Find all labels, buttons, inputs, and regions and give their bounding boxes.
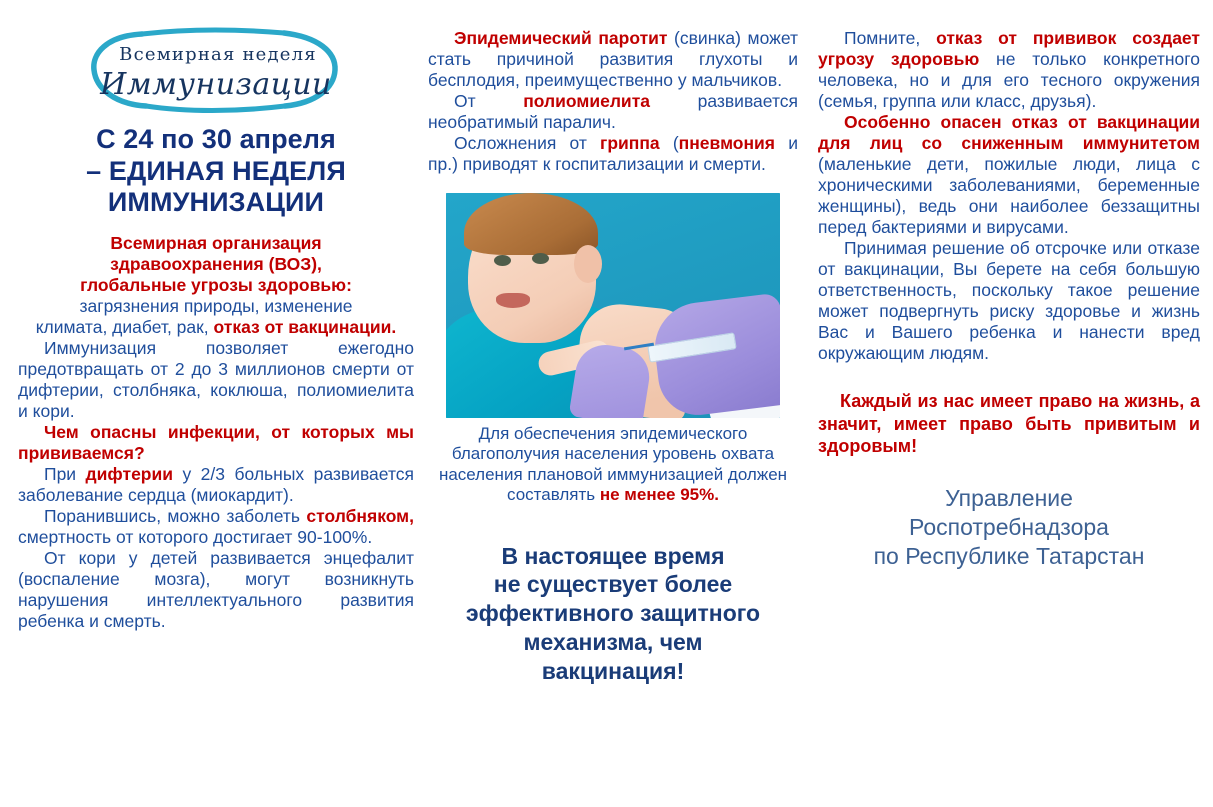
middle-paragraph-influenza: Осложнения от гриппа (пневмония и пр.) п… [428, 133, 798, 175]
influenza-pre: Осложнения от [454, 133, 600, 153]
remember-pre: Помните, [844, 28, 936, 48]
left-paragraph-tetanus: Поранившись, можно заболеть столбняком, … [18, 506, 414, 548]
photo-child-eye-left [494, 255, 511, 266]
tetanus-highlight: столбняком, [306, 506, 414, 526]
who-heading-line-2: здравоохранения (ВОЗ), [18, 254, 414, 275]
immunocompromised-post: (маленькие дети, пожилые люди, лица с хр… [818, 154, 1200, 237]
right-paragraph-remember: Помните, отказ от прививок создает угроз… [818, 28, 1200, 112]
immunocompromised-highlight: Особенно опасен отказ от вакцинации для … [818, 112, 1200, 153]
photo-child-eye-right [532, 253, 549, 264]
who-body-highlight: отказ от вакцинации. [214, 317, 397, 337]
who-heading-line-3: глобальные угрозы здоровью: [18, 275, 414, 296]
tetanus-pre: Поранившись, можно заболеть [44, 506, 306, 526]
who-body-line-1: загрязнения природы, изменение [18, 296, 414, 317]
title-line-1: С 24 по 30 апреля [18, 124, 414, 156]
middle-paragraph-polio: От полиомиелита развивается необратимый … [428, 91, 798, 133]
photo-child-mouth [496, 293, 530, 308]
tetanus-post: смертность от которого достигает 90-100%… [18, 527, 372, 547]
immunization-week-poster: Всемирная неделя Иммунизации С 24 по 30 … [0, 0, 1213, 807]
logo-icon: Всемирная неделя Иммунизации [86, 24, 346, 116]
polio-pre: От [454, 91, 523, 111]
slogan-line-2: не существует более [494, 571, 732, 597]
middle-paragraph-mumps: Эпидемический паротит (свинка) может ста… [428, 28, 798, 91]
slogan-line-5: вакцинация! [542, 658, 684, 684]
slogan-line-1: В настоящее время [501, 543, 724, 569]
influenza-highlight: гриппа [600, 133, 660, 153]
issuing-authority-signature: Управление Роспотребнадзора по Республик… [818, 484, 1200, 572]
right-paragraph-responsibility: Принимая решение об отсрочке или отказе … [818, 238, 1200, 364]
signature-line-1: Управление [818, 484, 1200, 513]
diphtheria-pre: При [44, 464, 86, 484]
vaccination-photo [446, 193, 780, 418]
world-immunization-week-logo: Всемирная неделя Иммунизации [18, 22, 414, 118]
logo-line-main: Иммунизации [99, 67, 332, 102]
title-line-2: – ЕДИНАЯ НЕДЕЛЯ [18, 156, 414, 188]
left-question-heading: Чем опасны инфекции, от которых мы приви… [18, 422, 414, 464]
right-closing-statement: Каждый из нас имеет право на жизнь, а зн… [818, 390, 1200, 458]
who-intro-block: Всемирная организация здравоохранения (В… [18, 233, 414, 338]
signature-line-2: Роспотребнадзора [818, 513, 1200, 542]
logo-line-top: Всемирная неделя [119, 44, 317, 65]
left-paragraph-measles: От кори у детей развивается энцефалит (в… [18, 548, 414, 632]
slogan-line-4: механизма, чем [523, 629, 702, 655]
middle-slogan: В настоящее время не существует более эф… [428, 542, 798, 686]
left-paragraph-immunization: Иммунизация позволяет ежегодно предотвра… [18, 338, 414, 422]
photo-caption: Для обеспечения эпидемического благополу… [428, 424, 798, 506]
who-heading-line-1: Всемирная организация [18, 233, 414, 254]
caption-highlight: не менее 95%. [600, 485, 719, 504]
middle-column: Эпидемический паротит (свинка) может ста… [428, 0, 798, 807]
left-column: Всемирная неделя Иммунизации С 24 по 30 … [18, 0, 414, 807]
right-column: Помните, отказ от прививок создает угроз… [818, 0, 1200, 807]
signature-line-3: по Республике Татарстан [818, 542, 1200, 571]
diphtheria-highlight: дифтерии [86, 464, 173, 484]
polio-highlight: полиомиелита [523, 91, 650, 111]
right-paragraph-immunocompromised: Особенно опасен отказ от вакцинации для … [818, 112, 1200, 238]
title-line-3: ИММУНИЗАЦИИ [18, 187, 414, 219]
left-paragraph-diphtheria: При дифтерии у 2/3 больных развивается з… [18, 464, 414, 506]
pneumonia-highlight: пневмония [679, 133, 775, 153]
mumps-highlight: Эпидемический паротит [454, 28, 667, 48]
photo-child-ear [574, 245, 602, 283]
who-body-text: климата, диабет, рак, [36, 317, 214, 337]
who-body-line-2: климата, диабет, рак, отказ от вакцинаци… [18, 317, 414, 338]
slogan-line-3: эффективного защитного [466, 600, 760, 626]
influenza-mid: ( [660, 133, 679, 153]
page-title: С 24 по 30 апреля – ЕДИНАЯ НЕДЕЛЯ ИММУНИ… [18, 124, 414, 219]
